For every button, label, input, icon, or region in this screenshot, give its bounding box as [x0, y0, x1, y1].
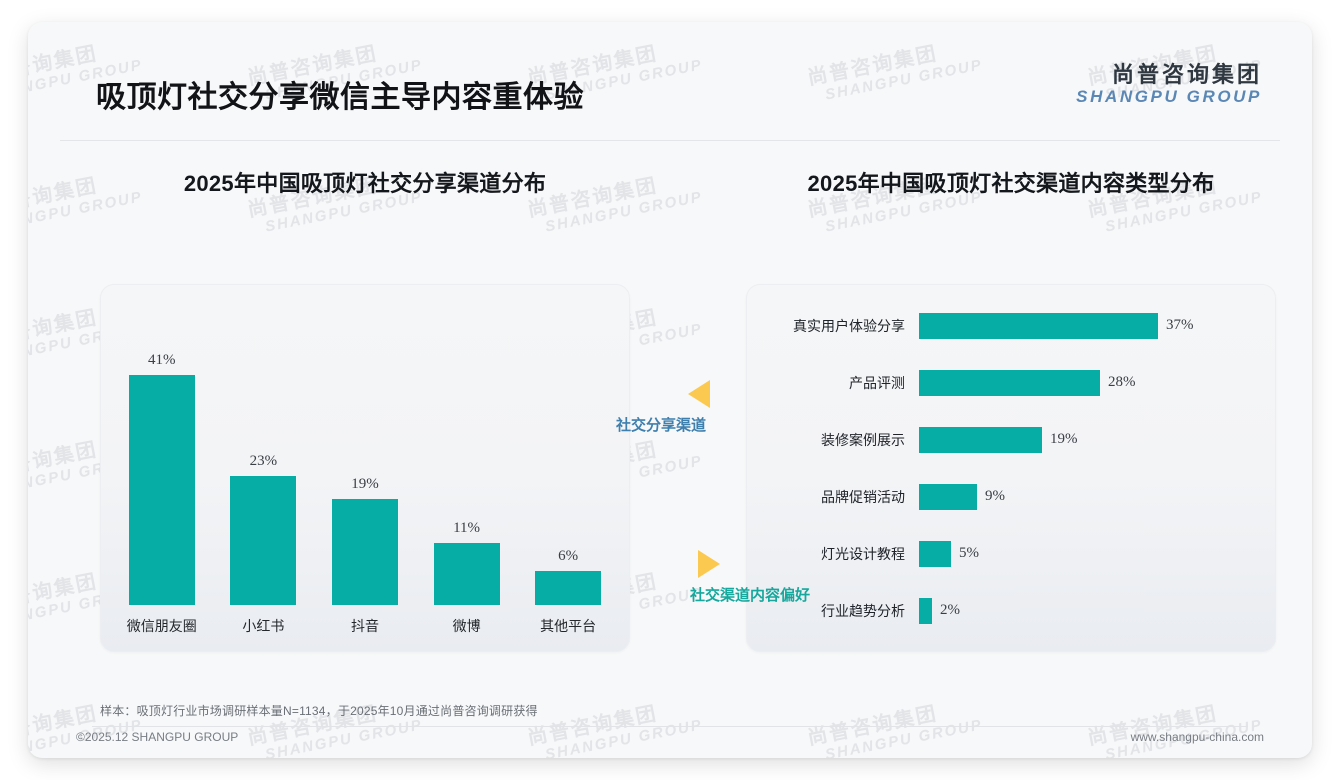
bar-rect	[919, 541, 951, 567]
annotation-label: 社交分享渠道	[616, 414, 710, 435]
horizontal-bar-item: 灯光设计教程5%	[759, 537, 1263, 571]
left-chart-title: 2025年中国吸顶灯社交分享渠道分布	[100, 162, 630, 206]
bar-value-label: 5%	[959, 545, 979, 562]
vertical-bar-item: 6%	[525, 299, 611, 605]
annotation-label: 社交渠道内容偏好	[690, 584, 810, 605]
bar-rect	[434, 543, 500, 605]
bar-value-label: 23%	[250, 453, 278, 470]
brand-logo: 尚普咨询集团 SHANGPU GROUP	[1076, 62, 1262, 108]
bar-value-label: 19%	[351, 476, 379, 493]
slide-footer: ©2025.12 SHANGPU GROUP www.shangpu-china…	[28, 726, 1312, 758]
vertical-bar-category-axis: 微信朋友圈小红书抖音微博其他平台	[111, 611, 619, 641]
bar-category-label: 品牌促销活动	[759, 487, 919, 507]
bar-category-label: 真实用户体验分享	[759, 316, 919, 336]
page-title: 吸顶灯社交分享微信主导内容重体验	[96, 72, 584, 116]
bar-track: 28%	[919, 370, 1263, 396]
bar-track: 5%	[919, 541, 1263, 567]
footer-website[interactable]: www.shangpu-china.com	[1131, 730, 1264, 744]
horizontal-bar-item: 真实用户体验分享37%	[759, 309, 1263, 343]
vertical-bar-item: 11%	[424, 299, 510, 605]
right-chart-column: 2025年中国吸顶灯社交渠道内容类型分布 真实用户体验分享37%产品评测28%装…	[746, 162, 1276, 652]
bar-rect	[919, 370, 1100, 396]
vertical-bar-item: 41%	[119, 299, 205, 605]
bar-rect	[919, 598, 932, 624]
bar-rect	[919, 313, 1158, 339]
sample-note: 样本：吸顶灯行业市场调研样本量N=1134，于2025年10月通过尚普咨询调研获…	[100, 702, 538, 719]
bar-value-label: 9%	[985, 488, 1005, 505]
bar-category-label: 微信朋友圈	[119, 616, 205, 636]
logo-english-text: SHANGPU GROUP	[1076, 87, 1262, 107]
footer-copyright: ©2025.12 SHANGPU GROUP	[76, 730, 238, 744]
bar-track: 2%	[919, 598, 1263, 624]
right-chart-title: 2025年中国吸顶灯社交渠道内容类型分布	[746, 162, 1276, 206]
vertical-bar-item: 19%	[322, 299, 408, 605]
horizontal-bar-item: 行业趋势分析2%	[759, 594, 1263, 628]
slide-header: 吸顶灯社交分享微信主导内容重体验 尚普咨询集团 SHANGPU GROUP	[28, 22, 1312, 118]
bar-value-label: 41%	[148, 352, 176, 369]
bar-category-label: 抖音	[322, 616, 408, 636]
bar-category-label: 装修案例展示	[759, 430, 919, 450]
bar-rect	[332, 499, 398, 605]
bar-rect	[919, 484, 977, 510]
vertical-bar-group: 41%23%19%11%6%	[111, 299, 619, 605]
left-chart-panel: 41%23%19%11%6% 微信朋友圈小红书抖音微博其他平台	[100, 284, 630, 652]
horizontal-bar-group: 真实用户体验分享37%产品评测28%装修案例展示19%品牌促销活动9%灯光设计教…	[759, 297, 1263, 639]
right-chart-panel: 真实用户体验分享37%产品评测28%装修案例展示19%品牌促销活动9%灯光设计教…	[746, 284, 1276, 652]
triangle-left-icon	[688, 380, 710, 408]
header-divider	[60, 140, 1280, 141]
bar-track: 9%	[919, 484, 1263, 510]
bar-value-label: 37%	[1166, 317, 1194, 334]
bar-value-label: 2%	[940, 602, 960, 619]
bar-category-label: 其他平台	[525, 616, 611, 636]
bar-track: 37%	[919, 313, 1263, 339]
bar-rect	[129, 375, 195, 605]
horizontal-bar-item: 产品评测28%	[759, 366, 1263, 400]
left-chart-column: 2025年中国吸顶灯社交分享渠道分布 41%23%19%11%6% 微信朋友圈小…	[100, 162, 630, 652]
bar-category-label: 小红书	[220, 616, 306, 636]
bar-rect	[535, 571, 601, 605]
annotation-social-share-channel: 社交分享渠道	[616, 380, 710, 435]
bar-value-label: 19%	[1050, 431, 1078, 448]
triangle-right-icon	[698, 550, 720, 578]
bar-value-label: 11%	[453, 520, 480, 537]
bar-rect	[230, 476, 296, 605]
horizontal-bar-item: 装修案例展示19%	[759, 423, 1263, 457]
bar-value-label: 28%	[1108, 374, 1136, 391]
bar-track: 19%	[919, 427, 1263, 453]
logo-chinese-text: 尚普咨询集团	[1076, 62, 1262, 87]
slide-card: 尚普咨询集团SHANGPU GROUP尚普咨询集团SHANGPU GROUP尚普…	[28, 22, 1312, 758]
bar-value-label: 6%	[558, 548, 578, 565]
bar-category-label: 产品评测	[759, 373, 919, 393]
vertical-bar-item: 23%	[220, 299, 306, 605]
annotation-content-preference: 社交渠道内容偏好	[690, 550, 810, 605]
bar-category-label: 微博	[424, 616, 510, 636]
bar-rect	[919, 427, 1042, 453]
horizontal-bar-item: 品牌促销活动9%	[759, 480, 1263, 514]
